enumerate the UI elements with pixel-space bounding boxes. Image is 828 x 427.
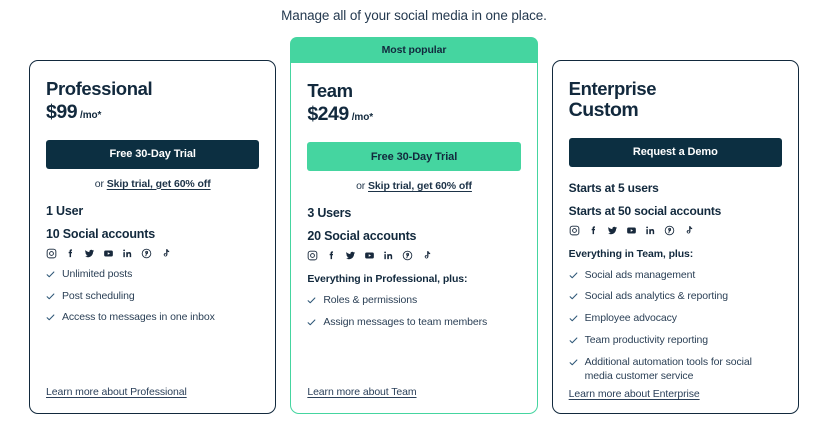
- list-item: Team productivity reporting: [569, 334, 782, 348]
- card-footer: Learn more about Enterprise: [553, 384, 798, 415]
- feature-label: Social ads management: [585, 269, 696, 283]
- linkedin-icon: [122, 248, 133, 259]
- social-icons-row: [307, 250, 520, 261]
- feature-label: Access to messages in one inbox: [62, 311, 215, 325]
- plan-price-suffix: /mo*: [80, 110, 101, 121]
- check-icon: [307, 318, 316, 327]
- skip-trial-line: or Skip trial, get 60% off: [307, 180, 520, 192]
- check-icon: [46, 313, 55, 322]
- skip-trial-prefix: or: [95, 178, 107, 190]
- pricing-card-professional: Professional $99 /mo* Free 30-Day Trial …: [29, 60, 276, 414]
- list-item: Unlimited posts: [46, 268, 259, 282]
- list-item: Access to messages in one inbox: [46, 311, 259, 325]
- youtube-icon: [103, 248, 114, 259]
- list-item: Social ads management: [569, 269, 782, 283]
- check-icon: [307, 296, 316, 305]
- feature-list: Roles & permissions Assign messages to t…: [307, 294, 520, 330]
- feature-list: Unlimited posts Post scheduling Access t…: [46, 268, 259, 326]
- tiktok-icon: [160, 248, 171, 259]
- price-row: $99 /mo*: [46, 101, 259, 124]
- price-row: $249 /mo*: [307, 103, 520, 126]
- learn-more-link[interactable]: Learn more about Enterprise: [569, 388, 700, 400]
- learn-more-link[interactable]: Learn more about Team: [307, 386, 416, 398]
- request-demo-button[interactable]: Request a Demo: [569, 138, 782, 167]
- check-icon: [569, 292, 578, 301]
- list-item: Additional automation tools for social m…: [569, 356, 782, 384]
- list-item: Assign messages to team members: [307, 316, 520, 330]
- feature-label: Unlimited posts: [62, 268, 132, 282]
- learn-more-link[interactable]: Learn more about Professional: [46, 386, 187, 398]
- pinterest-icon: [664, 225, 675, 236]
- plan-price-suffix: /mo*: [352, 112, 373, 123]
- linkedin-icon: [383, 250, 394, 261]
- list-item: Social ads analytics & reporting: [569, 290, 782, 304]
- plan-price: $99: [46, 101, 77, 124]
- list-item: Post scheduling: [46, 290, 259, 304]
- plan-accounts: 20 Social accounts: [307, 229, 520, 243]
- skip-trial-link[interactable]: Skip trial, get 60% off: [368, 180, 472, 192]
- plan-accounts: 10 Social accounts: [46, 227, 259, 241]
- free-trial-button[interactable]: Free 30-Day Trial: [46, 140, 259, 169]
- skip-trial-link[interactable]: Skip trial, get 60% off: [107, 178, 211, 190]
- check-icon: [46, 292, 55, 301]
- plan-users: 3 Users: [307, 206, 520, 220]
- pinterest-icon: [402, 250, 413, 261]
- youtube-icon: [626, 225, 637, 236]
- plan-users: 1 User: [46, 204, 259, 218]
- pricing-cards: Professional $99 /mo* Free 30-Day Trial …: [29, 38, 799, 414]
- plan-name: Enterprise: [569, 79, 782, 100]
- list-item: Roles & permissions: [307, 294, 520, 308]
- feature-label: Roles & permissions: [323, 294, 417, 308]
- plus-label: Everything in Professional, plus:: [307, 273, 520, 285]
- check-icon: [46, 270, 55, 279]
- instagram-icon: [307, 250, 318, 261]
- plan-name: Team: [307, 81, 520, 102]
- feature-label: Employee advocacy: [585, 312, 677, 326]
- linkedin-icon: [645, 225, 656, 236]
- twitter-icon: [345, 250, 356, 261]
- card-body: Team $249 /mo* Free 30-Day Trial or Skip…: [291, 63, 536, 382]
- tiktok-icon: [421, 250, 432, 261]
- skip-trial-line: or Skip trial, get 60% off: [46, 178, 259, 190]
- check-icon: [569, 314, 578, 323]
- feature-list: Social ads management Social ads analyti…: [569, 269, 782, 384]
- plan-price: $249: [307, 103, 348, 126]
- instagram-icon: [569, 225, 580, 236]
- plan-users: Starts at 5 users: [569, 181, 782, 195]
- check-icon: [569, 336, 578, 345]
- page-headline: Manage all of your social media in one p…: [0, 8, 828, 23]
- plan-name: Professional: [46, 79, 259, 100]
- twitter-icon: [607, 225, 618, 236]
- social-icons-row: [46, 248, 259, 259]
- plan-accounts: Starts at 50 social accounts: [569, 204, 782, 218]
- check-icon: [569, 358, 578, 367]
- most-popular-badge: Most popular: [290, 37, 539, 63]
- facebook-icon: [588, 225, 599, 236]
- facebook-icon: [65, 248, 76, 259]
- card-footer: Learn more about Team: [291, 382, 536, 413]
- feature-label: Assign messages to team members: [323, 316, 487, 330]
- social-icons-row: [569, 225, 782, 236]
- plus-label: Everything in Team, plus:: [569, 248, 782, 260]
- tiktok-icon: [683, 225, 694, 236]
- free-trial-button[interactable]: Free 30-Day Trial: [307, 142, 520, 171]
- skip-trial-prefix: or: [356, 180, 368, 192]
- pinterest-icon: [141, 248, 152, 259]
- feature-label: Social ads analytics & reporting: [585, 290, 728, 304]
- pricing-card-team: Most popular Team $249 /mo* Free 30-Day …: [290, 38, 537, 414]
- plan-price-word: Custom: [569, 100, 782, 122]
- card-body: Professional $99 /mo* Free 30-Day Trial …: [30, 61, 275, 382]
- pricing-card-enterprise: Enterprise Custom Request a Demo Starts …: [552, 60, 799, 414]
- card-footer: Learn more about Professional: [30, 382, 275, 413]
- list-item: Employee advocacy: [569, 312, 782, 326]
- twitter-icon: [84, 248, 95, 259]
- facebook-icon: [326, 250, 337, 261]
- feature-label: Additional automation tools for social m…: [585, 356, 782, 384]
- check-icon: [569, 271, 578, 280]
- instagram-icon: [46, 248, 57, 259]
- feature-label: Team productivity reporting: [585, 334, 708, 348]
- feature-label: Post scheduling: [62, 290, 135, 304]
- pricing-page: Manage all of your social media in one p…: [0, 0, 828, 427]
- card-body: Enterprise Custom Request a Demo Starts …: [553, 61, 798, 384]
- youtube-icon: [364, 250, 375, 261]
